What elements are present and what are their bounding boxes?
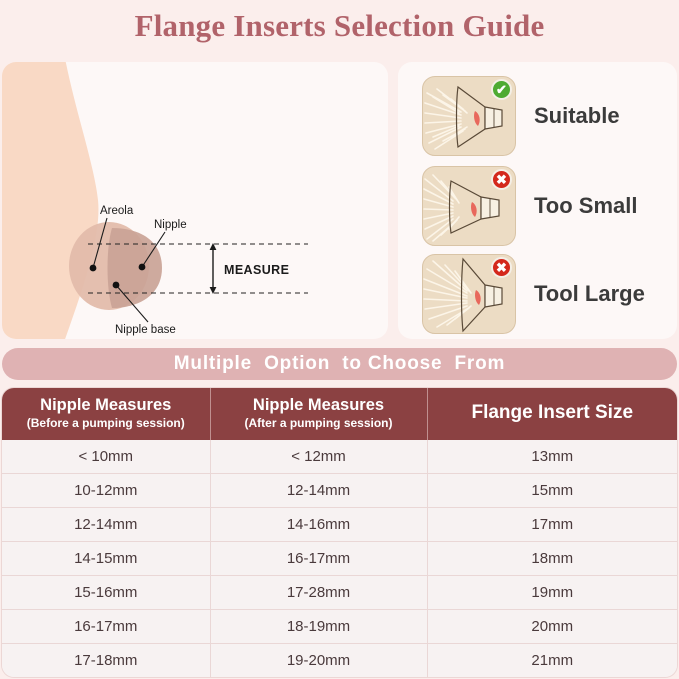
cell-before: 12-14mm xyxy=(2,508,210,542)
label-areola: Areola xyxy=(100,205,133,217)
table-row: 15-16mm 17-28mm 19mm xyxy=(2,576,677,610)
infographic-page: Flange Inserts Selection Guide xyxy=(0,0,679,679)
option-label-too-small: Too Small xyxy=(534,193,638,219)
table-header-row: Nipple Measures (Before a pumping sessio… xyxy=(2,388,677,440)
anatomy-diagram-card: Areola Nipple Nipple base MEASURE xyxy=(2,62,388,339)
table-row: 17-18mm 19-20mm 21mm xyxy=(2,644,677,678)
cell-size: 18mm xyxy=(427,542,677,576)
banner: Multiple Option to Choose From xyxy=(2,348,677,380)
option-row-suitable: ✔ Suitable xyxy=(422,76,620,156)
measure-arrow xyxy=(210,243,217,294)
table-row: 16-17mm 18-19mm 20mm xyxy=(2,610,677,644)
close-icon: ✖ xyxy=(491,257,512,278)
column-header-size-main: Flange Insert Size xyxy=(432,403,674,424)
banner-text: Multiple Option to Choose From xyxy=(174,353,505,375)
label-measure: MEASURE xyxy=(224,263,289,277)
cell-after: 12-14mm xyxy=(210,474,427,508)
cell-before: 16-17mm xyxy=(2,610,210,644)
cell-before: 10-12mm xyxy=(2,474,210,508)
option-label-too-large: Tool Large xyxy=(534,281,645,307)
breast-anatomy-illustration xyxy=(2,62,388,339)
column-header-size: Flange Insert Size xyxy=(427,388,677,440)
label-nipple: Nipple xyxy=(154,219,187,231)
column-header-after-main: Nipple Measures xyxy=(215,396,423,415)
nipple-shape xyxy=(108,228,163,308)
flange-suitable-icon: ✔ xyxy=(422,76,516,156)
cell-before: 14-15mm xyxy=(2,542,210,576)
cell-after: 14-16mm xyxy=(210,508,427,542)
table-row: 12-14mm 14-16mm 17mm xyxy=(2,508,677,542)
page-title: Flange Inserts Selection Guide xyxy=(0,8,679,44)
column-header-before-main: Nipple Measures xyxy=(6,396,206,415)
column-header-before-sub: (Before a pumping session) xyxy=(6,416,206,430)
cell-after: < 12mm xyxy=(210,440,427,474)
flange-too-small-icon: ✖ xyxy=(422,166,516,246)
table-row: 10-12mm 12-14mm 15mm xyxy=(2,474,677,508)
cell-size: 21mm xyxy=(427,644,677,678)
column-header-after-sub: (After a pumping session) xyxy=(215,416,423,430)
cell-after: 16-17mm xyxy=(210,542,427,576)
check-icon: ✔ xyxy=(491,79,512,100)
cell-before: 17-18mm xyxy=(2,644,210,678)
cell-size: 19mm xyxy=(427,576,677,610)
label-nipple-base: Nipple base xyxy=(115,324,176,336)
close-icon: ✖ xyxy=(491,169,512,190)
fit-options-card: ✔ Suitable xyxy=(398,62,677,339)
cell-before: 15-16mm xyxy=(2,576,210,610)
column-header-before: Nipple Measures (Before a pumping sessio… xyxy=(2,388,210,440)
cell-size: 13mm xyxy=(427,440,677,474)
flange-too-large-icon: ✖ xyxy=(422,254,516,334)
cell-size: 15mm xyxy=(427,474,677,508)
cell-after: 17-28mm xyxy=(210,576,427,610)
option-row-too-small: ✖ Too Small xyxy=(422,166,638,246)
cell-size: 17mm xyxy=(427,508,677,542)
column-header-after: Nipple Measures (After a pumping session… xyxy=(210,388,427,440)
cell-size: 20mm xyxy=(427,610,677,644)
table-row: 14-15mm 16-17mm 18mm xyxy=(2,542,677,576)
option-row-too-large: ✖ Tool Large xyxy=(422,254,645,334)
option-label-suitable: Suitable xyxy=(534,103,620,129)
cell-before: < 10mm xyxy=(2,440,210,474)
cell-after: 19-20mm xyxy=(210,644,427,678)
table-row: < 10mm < 12mm 13mm xyxy=(2,440,677,474)
flange-size-table: Nipple Measures (Before a pumping sessio… xyxy=(2,388,677,677)
cell-after: 18-19mm xyxy=(210,610,427,644)
